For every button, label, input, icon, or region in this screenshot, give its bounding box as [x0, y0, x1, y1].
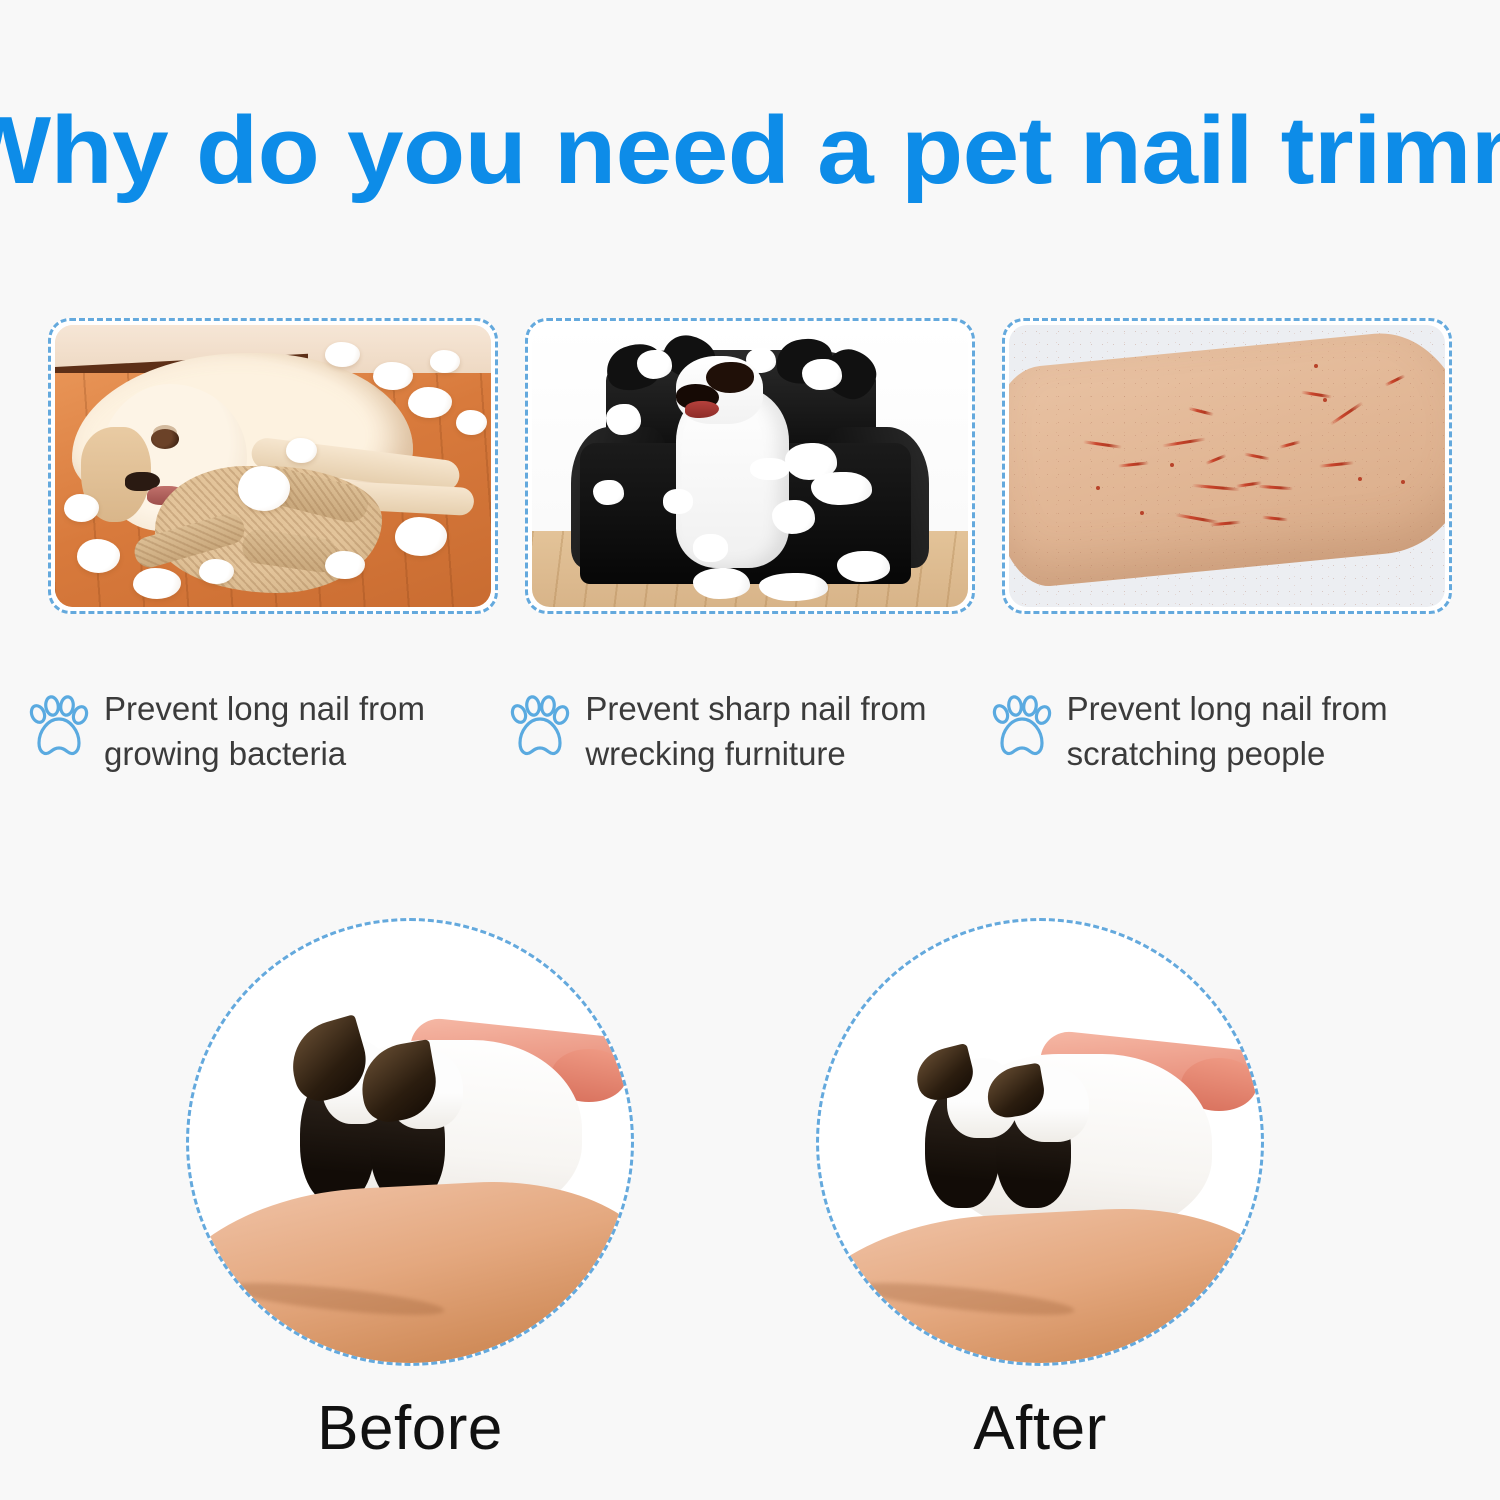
after-item: After: [805, 918, 1275, 1462]
paw-print-icon: [509, 692, 571, 762]
feature-card-scratches: [1002, 318, 1452, 614]
photo-paw-trimmed-nails: [816, 918, 1264, 1366]
feature-caption-text: Prevent long nail from scratching people: [1067, 686, 1388, 776]
photo-dog-with-destroyed-toy: [55, 325, 491, 607]
paw-print-icon: [28, 692, 90, 762]
feature-captions-row: Prevent long nail from growing bacteria …: [28, 686, 1472, 776]
feature-caption-text: Prevent long nail from growing bacteria: [104, 686, 425, 776]
feature-card-furniture: [525, 318, 975, 614]
feature-caption-scratches: Prevent long nail from scratching people: [991, 686, 1472, 776]
after-label: After: [805, 1396, 1275, 1462]
before-label: Before: [175, 1396, 645, 1462]
feature-caption-bacteria: Prevent long nail from growing bacteria: [28, 686, 509, 776]
feature-card-bacteria: [48, 318, 498, 614]
feature-caption-furniture: Prevent sharp nail from wrecking furnitu…: [509, 686, 990, 776]
photo-dog-on-shredded-armchair: [532, 325, 968, 607]
before-item: Before: [175, 918, 645, 1462]
feature-caption-text: Prevent sharp nail from wrecking furnitu…: [585, 686, 926, 776]
photo-scratched-forearm: [1009, 325, 1445, 607]
before-after-row: Before After: [0, 918, 1500, 1478]
photo-paw-long-nails: [186, 918, 634, 1366]
paw-print-icon: [991, 692, 1053, 762]
feature-cards-row: [48, 318, 1452, 614]
page-title: Why do you need a pet nail trimmer?: [0, 96, 1500, 206]
